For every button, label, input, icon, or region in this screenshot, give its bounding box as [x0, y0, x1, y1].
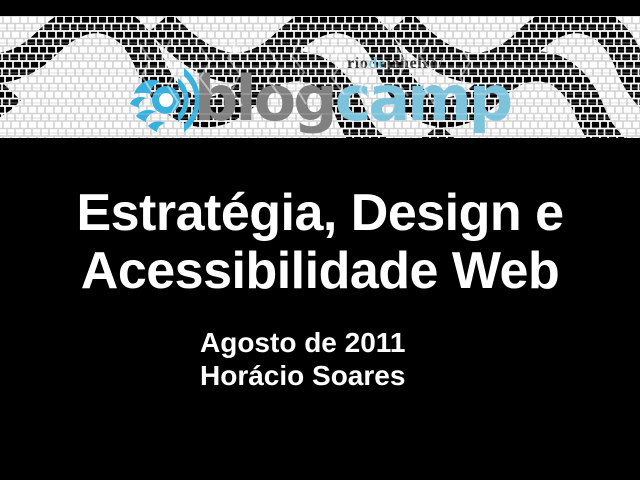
title-line-2: Acessibilidade Web: [0, 242, 640, 300]
logo-wordmark: blogcamp: [194, 68, 510, 130]
slide-subtitle: Agosto de 2011 Horácio Soares: [200, 326, 560, 392]
blogcamp-logo: riodejaneiro/ blogcamp: [126, 44, 486, 136]
blogcamp-rss-wave-icon: [126, 64, 204, 136]
subtitle-author: Horácio Soares: [200, 359, 560, 392]
title-line-1: Estratégia, Design e: [0, 184, 640, 242]
wordmark-blog: blog: [194, 62, 335, 135]
slide-title: Estratégia, Design e Acessibilidade Web: [0, 184, 640, 300]
presentation-slide: riodejaneiro/ blogcamp: [0, 0, 640, 480]
copacabana-mosaic-banner: riodejaneiro/ blogcamp: [0, 16, 640, 138]
subtitle-date: Agosto de 2011: [200, 326, 560, 359]
wordmark-camp: camp: [335, 62, 511, 135]
